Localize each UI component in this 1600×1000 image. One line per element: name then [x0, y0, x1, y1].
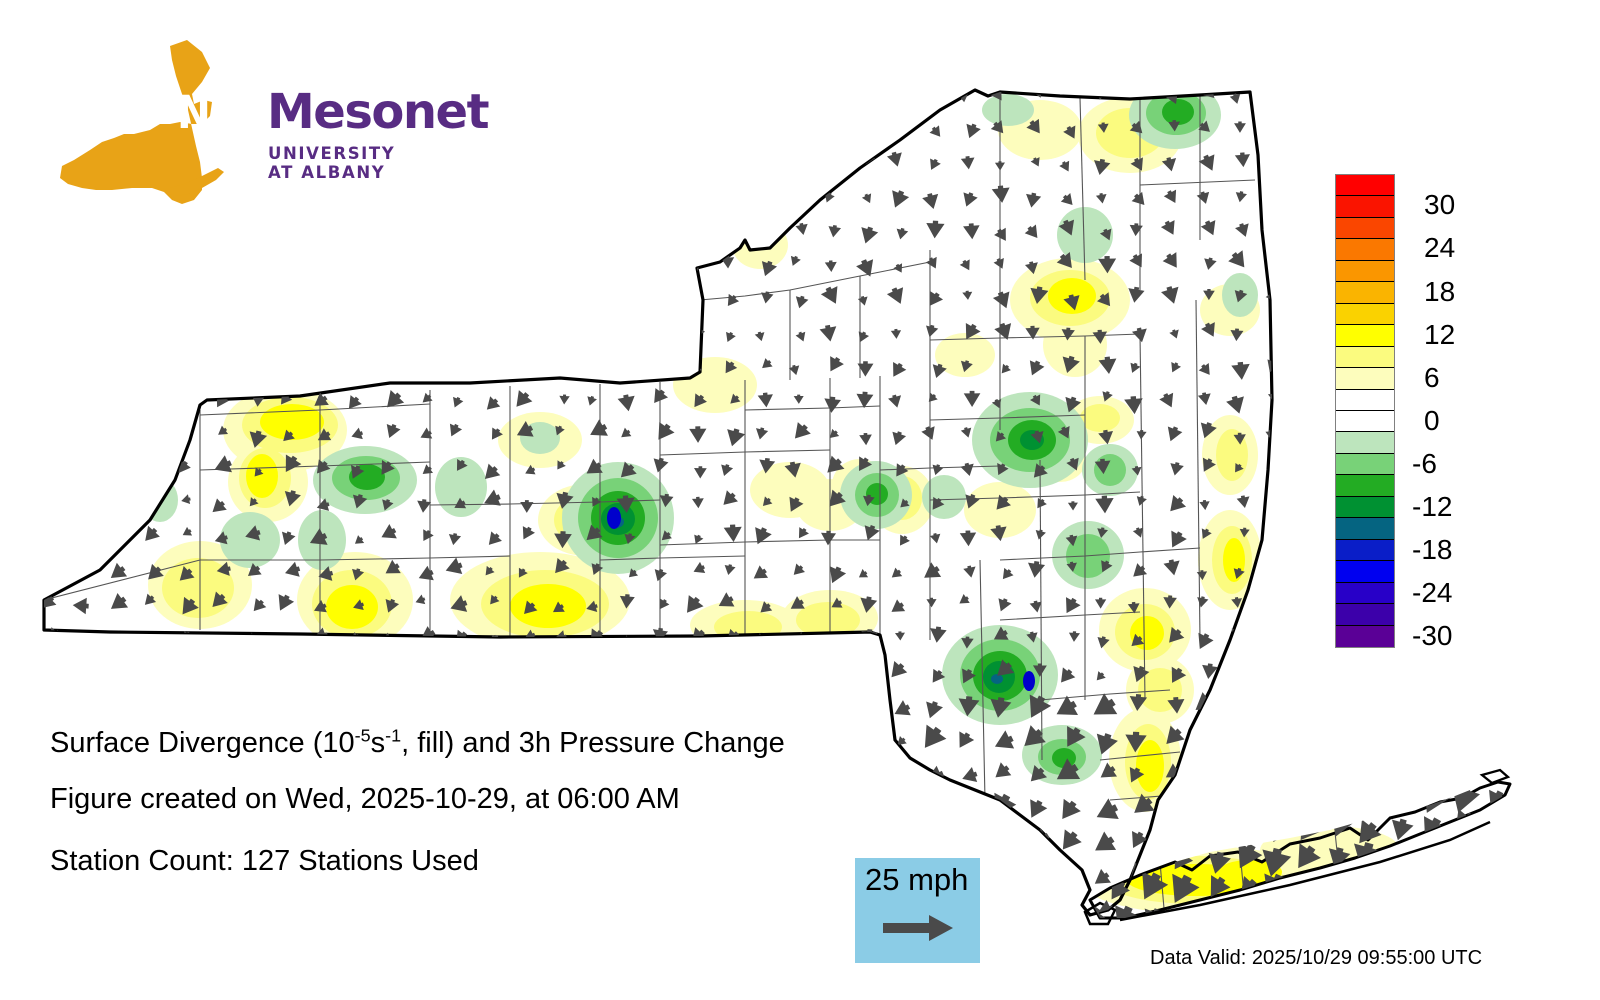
pressure-change-arrow: [1327, 874, 1357, 904]
pressure-change-arrow: [351, 703, 367, 719]
pressure-change-arrow: [181, 395, 194, 408]
pressure-change-arrow: [1320, 778, 1358, 816]
pressure-change-arrow: [443, 557, 465, 579]
pressure-change-arrow: [724, 524, 743, 542]
pressure-change-arrow: [447, 294, 464, 311]
pressure-change-arrow: [517, 834, 543, 860]
pressure-change-arrow: [282, 901, 295, 914]
pressure-change-arrow: [1158, 829, 1187, 858]
pressure-change-arrow: [106, 591, 131, 616]
pressure-change-arrow: [793, 764, 810, 781]
pressure-change-arrow: [752, 222, 770, 239]
pressure-change-arrow: [722, 899, 745, 921]
pressure-change-arrow: [660, 910, 669, 920]
pressure-change-arrow: [787, 800, 806, 819]
pressure-change-arrow: [1161, 250, 1183, 272]
colorbar-tick-label: -6: [1412, 448, 1437, 480]
pressure-change-arrow: [1163, 424, 1183, 444]
pressure-change-arrow: [1192, 631, 1214, 653]
pressure-change-arrow: [1134, 495, 1147, 508]
pressure-change-arrow: [1136, 430, 1147, 440]
pressure-change-arrow: [758, 186, 774, 202]
pressure-change-arrow: [751, 150, 771, 170]
pressure-change-arrow: [625, 699, 638, 711]
pressure-change-arrow: [409, 354, 432, 377]
pressure-change-arrow: [963, 565, 978, 579]
pressure-change-arrow: [1125, 829, 1149, 852]
pressure-change-arrow: [180, 494, 191, 506]
pressure-change-arrow: [689, 834, 710, 856]
pressure-change-arrow: [647, 252, 669, 274]
pressure-change-arrow: [990, 761, 1013, 784]
pressure-change-arrow: [108, 693, 129, 714]
pressure-change-arrow: [794, 395, 804, 404]
pressure-change-arrow: [550, 836, 564, 851]
pressure-change-arrow: [928, 124, 945, 140]
colorbar-band: [1336, 475, 1394, 496]
pressure-change-arrow: [1267, 500, 1280, 513]
pressure-change-arrow: [1060, 192, 1078, 210]
pressure-change-arrow: [559, 394, 570, 404]
pressure-change-arrow: [446, 222, 462, 238]
pressure-change-arrow: [555, 226, 572, 243]
pressure-change-arrow: [788, 870, 804, 886]
pressure-change-arrow: [42, 534, 56, 548]
pressure-change-arrow: [1227, 248, 1252, 273]
pressure-change-arrow: [139, 455, 160, 476]
pressure-change-arrow: [517, 524, 536, 542]
pressure-change-arrow: [482, 395, 502, 415]
title-exp1: -5: [355, 725, 371, 745]
pressure-change-arrow: [891, 329, 902, 340]
pressure-change-arrow: [754, 331, 766, 343]
pressure-change-arrow: [690, 117, 709, 135]
pressure-change-arrow: [411, 259, 428, 276]
pressure-change-arrow: [682, 149, 707, 173]
pressure-change-arrow: [958, 801, 976, 819]
pressure-change-arrow: [378, 523, 399, 544]
pressure-change-arrow: [76, 320, 94, 338]
pressure-change-arrow: [656, 693, 676, 714]
pressure-change-arrow: [915, 722, 949, 755]
pressure-change-arrow: [892, 769, 910, 787]
colorbar-tick-label: 12: [1424, 319, 1455, 351]
pressure-change-arrow: [719, 868, 737, 887]
data-valid-text: Data Valid: 2025/10/29 09:55:00 UTC: [1150, 947, 1482, 970]
pressure-change-arrow: [655, 597, 670, 612]
title-mid: s: [371, 727, 386, 759]
pressure-change-arrow: [510, 388, 534, 412]
colorbar-band: [1336, 561, 1394, 582]
colorbar-band: [1336, 239, 1394, 260]
pressure-change-arrow: [1445, 870, 1484, 909]
pressure-change-arrow: [887, 802, 910, 824]
pressure-change-arrow: [723, 330, 737, 344]
colorbar-band: [1336, 196, 1394, 217]
pressure-change-arrow: [854, 82, 878, 105]
pressure-change-arrow: [692, 806, 706, 820]
pressure-change-arrow: [1262, 786, 1298, 821]
pressure-change-arrow: [485, 898, 502, 915]
pressure-change-arrow: [691, 561, 707, 577]
pressure-change-arrow: [447, 532, 461, 546]
pressure-change-arrow: [278, 530, 296, 548]
colorbar-tick-label: 24: [1424, 232, 1455, 264]
pressure-change-arrow: [450, 395, 464, 409]
pressure-change-arrow: [1259, 151, 1281, 172]
pressure-change-arrow: [208, 497, 229, 518]
pressure-change-arrow: [823, 768, 845, 790]
pressure-change-arrow: [1268, 663, 1284, 679]
pressure-change-arrow: [723, 188, 744, 208]
colorbar-band: [1336, 282, 1394, 303]
pressure-change-arrow: [652, 766, 670, 783]
pressure-change-arrow: [176, 320, 193, 337]
pressure-change-arrow: [1268, 192, 1281, 204]
pressure-change-arrow: [249, 900, 263, 914]
pressure-change-arrow: [922, 192, 942, 211]
pressure-change-arrow: [1129, 223, 1143, 237]
pressure-change-arrow: [789, 739, 803, 752]
pressure-change-arrow: [1164, 493, 1188, 517]
pressure-change-arrow: [418, 427, 434, 443]
pressure-change-arrow: [546, 191, 565, 209]
pressure-change-arrow: [110, 899, 131, 920]
pressure-change-arrow: [102, 323, 125, 346]
pressure-change-arrow: [1023, 223, 1042, 242]
pressure-change-arrow: [72, 497, 92, 516]
pressure-change-arrow: [1054, 796, 1083, 825]
colorbar-tick-label: 6: [1424, 362, 1440, 394]
pressure-change-arrow: [1195, 595, 1209, 608]
pressure-change-arrow: [349, 359, 367, 378]
pressure-change-arrow: [1128, 562, 1148, 582]
pressure-change-arrow: [1020, 901, 1048, 928]
colorbar-band: [1336, 454, 1394, 475]
pressure-change-arrow: [1200, 218, 1221, 239]
pressure-change-arrow: [1163, 558, 1182, 577]
pressure-change-arrow: [519, 286, 537, 304]
pressure-change-arrow: [144, 359, 164, 378]
pressure-change-arrow: [861, 192, 874, 205]
pressure-change-arrow: [115, 360, 130, 375]
pressure-change-arrow: [272, 592, 295, 615]
pressure-change-arrow: [724, 696, 742, 714]
pressure-change-arrow: [79, 221, 93, 235]
pressure-change-arrow: [591, 904, 605, 918]
pressure-change-arrow: [825, 260, 838, 272]
pressure-change-arrow: [624, 900, 640, 916]
pressure-change-arrow: [995, 161, 1005, 171]
pressure-change-arrow: [1224, 692, 1254, 722]
pressure-change-arrow: [352, 327, 363, 337]
pressure-change-arrow: [987, 835, 1009, 857]
pressure-change-arrow: [415, 900, 432, 918]
colorbar-band: [1336, 390, 1394, 411]
pressure-change-arrow: [111, 462, 133, 484]
logo-divider: [258, 84, 265, 142]
pressure-change-arrow: [754, 696, 768, 710]
pressure-change-arrow: [1231, 361, 1251, 380]
pressure-change-arrow: [615, 153, 635, 172]
pressure-change-arrow: [480, 149, 500, 169]
pressure-change-arrow: [852, 121, 871, 140]
pressure-change-arrow: [1132, 526, 1146, 539]
pressure-change-arrow: [1159, 792, 1185, 817]
pressure-change-arrow: [41, 496, 61, 517]
pressure-change-arrow: [920, 86, 942, 107]
nys-mesonet-logo: NYS Mesonet UNIVERSITY AT ALBANY: [52, 38, 397, 208]
pressure-change-arrow: [685, 870, 705, 890]
pressure-change-arrow: [1262, 794, 1288, 820]
pressure-change-arrow: [1382, 782, 1416, 815]
pressure-change-arrow: [887, 598, 906, 618]
pressure-change-arrow: [686, 288, 700, 302]
pressure-change-arrow: [345, 662, 370, 687]
pressure-change-arrow: [1127, 361, 1141, 375]
pressure-change-arrow: [990, 891, 1021, 923]
colorbar-tick-label: -24: [1412, 577, 1452, 609]
pressure-change-arrow: [819, 324, 839, 343]
pressure-change-arrow: [208, 659, 230, 680]
colorbar-band: [1336, 432, 1394, 453]
pressure-change-arrow: [826, 159, 842, 174]
pressure-change-arrow: [482, 694, 503, 714]
pressure-change-arrow: [1199, 500, 1210, 511]
pressure-change-arrow: [1225, 808, 1266, 849]
pressure-change-arrow: [591, 192, 604, 205]
pressure-change-arrow: [146, 766, 159, 779]
pressure-change-arrow: [1270, 88, 1281, 99]
pressure-change-arrow: [1227, 900, 1252, 924]
pressure-change-arrow: [923, 324, 938, 339]
pressure-change-arrow: [788, 84, 802, 98]
pressure-change-arrow: [926, 157, 942, 173]
pressure-change-arrow: [183, 288, 197, 302]
colorbar-band: [1336, 411, 1394, 432]
colorbar-tick-label: -12: [1412, 491, 1452, 523]
pressure-change-arrow: [1264, 693, 1286, 714]
pressure-change-arrow: [964, 391, 981, 407]
logo-mesonet-text: Mesonet: [267, 88, 488, 136]
pressure-change-arrow: [175, 902, 199, 927]
pressure-change-arrow: [1056, 864, 1077, 885]
pressure-change-arrow: [856, 568, 869, 581]
colorbar-tick-label: -30: [1412, 620, 1452, 652]
pressure-change-arrow: [248, 597, 267, 616]
pressure-change-arrow: [962, 290, 973, 300]
colorbar-band: [1336, 261, 1394, 282]
pressure-change-arrow: [320, 324, 334, 337]
pressure-change-arrow: [895, 533, 911, 549]
pressure-change-arrow: [1408, 873, 1446, 911]
pressure-change-arrow: [963, 223, 981, 240]
pressure-change-arrow: [785, 185, 802, 202]
pressure-change-arrow: [376, 659, 398, 680]
pressure-change-arrow: [113, 762, 130, 780]
pressure-change-arrow: [1096, 192, 1108, 204]
pressure-change-arrow: [1169, 328, 1182, 340]
station-marker: [1023, 671, 1035, 691]
pressure-change-arrow: [514, 323, 531, 340]
pressure-change-arrow: [653, 841, 666, 854]
pressure-change-arrow: [861, 834, 875, 848]
pressure-change-arrow: [208, 903, 227, 922]
pressure-change-arrow: [1029, 83, 1047, 101]
pressure-change-arrow: [1034, 529, 1047, 541]
pressure-change-arrow: [388, 698, 399, 709]
pressure-change-arrow: [991, 729, 1017, 756]
pressure-change-arrow: [584, 835, 596, 847]
pressure-change-arrow: [888, 393, 904, 409]
pressure-change-arrow: [757, 392, 774, 408]
pressure-change-arrow: [756, 662, 777, 683]
pressure-change-arrow: [147, 664, 158, 676]
pressure-change-arrow: [1236, 495, 1251, 510]
arrow-right-icon: [883, 913, 955, 943]
pressure-change-arrow: [759, 357, 774, 372]
pressure-change-arrow: [111, 393, 125, 407]
pressure-change-arrow: [1095, 598, 1106, 609]
pressure-change-arrow: [316, 667, 332, 683]
pressure-change-arrow: [652, 861, 676, 885]
pressure-change-arrow: [961, 156, 976, 171]
colorbar-band: [1336, 175, 1394, 196]
pressure-change-arrow: [213, 354, 234, 374]
pressure-change-arrow: [926, 828, 949, 851]
pressure-change-arrow: [280, 664, 297, 681]
pressure-change-arrow: [386, 767, 402, 783]
pressure-change-arrow: [518, 668, 535, 685]
pressure-change-arrow: [855, 330, 870, 345]
pressure-change-arrow: [618, 427, 633, 442]
pressure-change-arrow: [314, 693, 333, 713]
pressure-change-arrow: [176, 701, 196, 721]
pressure-change-arrow: [1160, 284, 1183, 306]
pressure-change-arrow: [926, 598, 936, 608]
pressure-change-arrow: [654, 671, 666, 683]
pressure-change-arrow: [184, 768, 196, 780]
pressure-change-arrow: [723, 427, 746, 449]
pressure-change-arrow: [281, 224, 303, 246]
pressure-change-arrow: [514, 902, 530, 918]
pressure-change-arrow: [926, 220, 945, 239]
pressure-change-arrow: [283, 633, 302, 652]
pressure-change-arrow: [105, 657, 130, 681]
pressure-change-arrow: [382, 422, 401, 441]
pressure-change-arrow: [1263, 762, 1284, 783]
pressure-change-arrow: [241, 693, 265, 717]
pressure-change-arrow: [1158, 391, 1178, 411]
pressure-change-arrow: [1258, 908, 1286, 936]
pressure-change-arrow: [580, 359, 601, 380]
pressure-change-arrow: [887, 188, 911, 211]
pressure-change-arrow: [1413, 780, 1454, 820]
pressure-change-arrow: [342, 219, 366, 243]
pressure-change-arrow: [1380, 870, 1422, 911]
pressure-change-arrow: [37, 394, 58, 415]
pressure-change-arrow: [248, 260, 268, 279]
pressure-change-arrow: [858, 295, 870, 307]
pressure-change-arrow: [414, 594, 427, 607]
pressure-change-arrow: [854, 803, 872, 821]
pressure-change-arrow: [453, 154, 468, 168]
pressure-change-arrow: [73, 662, 91, 680]
pressure-change-arrow: [111, 498, 122, 510]
pressure-change-arrow: [418, 700, 433, 715]
pressure-change-arrow: [691, 84, 706, 98]
pressure-change-arrow: [449, 326, 463, 340]
pressure-change-arrow: [140, 632, 159, 652]
pressure-change-arrow: [378, 320, 395, 337]
title-exp2: -1: [385, 725, 401, 745]
pressure-change-arrow: [141, 322, 160, 340]
pressure-change-arrow: [859, 664, 882, 687]
pressure-change-arrow: [654, 188, 673, 206]
pressure-change-arrow: [488, 834, 504, 850]
pressure-change-arrow: [318, 221, 334, 236]
pressure-change-arrow: [1473, 839, 1513, 878]
pressure-change-arrow: [796, 124, 808, 136]
pressure-change-arrow: [784, 666, 805, 687]
pressure-change-arrow: [244, 666, 267, 689]
pressure-change-arrow: [108, 428, 127, 447]
pressure-change-arrow: [1198, 391, 1213, 406]
colorbar-band: [1336, 604, 1394, 625]
pressure-change-arrow: [274, 361, 293, 381]
pressure-change-arrow: [554, 157, 568, 171]
pressure-change-arrow: [919, 561, 943, 585]
pressure-change-arrow: [1193, 812, 1231, 850]
pressure-change-arrow: [108, 528, 124, 545]
pressure-change-arrow: [418, 528, 434, 544]
pressure-change-arrow: [175, 218, 193, 236]
pressure-change-arrow: [1229, 897, 1269, 936]
pressure-change-arrow: [894, 227, 908, 241]
pressure-change-arrow: [416, 499, 431, 514]
pressure-change-arrow: [752, 866, 770, 884]
pressure-change-arrow: [1259, 734, 1280, 755]
pressure-change-arrow: [694, 466, 707, 478]
pressure-change-arrow: [314, 766, 327, 779]
pressure-change-arrow: [414, 318, 437, 341]
pressure-change-arrow: [343, 393, 363, 413]
pressure-change-arrow: [1160, 218, 1180, 238]
pressure-change-arrow: [278, 292, 291, 305]
pressure-change-arrow: [1059, 595, 1081, 617]
pressure-change-arrow: [795, 222, 809, 236]
lake-fragment: [1482, 770, 1508, 783]
pressure-change-arrow: [484, 184, 502, 202]
pressure-change-arrow: [381, 227, 393, 238]
pressure-change-arrow: [996, 870, 1016, 890]
pressure-change-arrow: [307, 358, 330, 380]
pressure-change-arrow: [477, 288, 500, 310]
pressure-change-arrow: [960, 426, 973, 439]
pressure-change-arrow: [415, 187, 437, 209]
pressure-change-arrow: [959, 258, 974, 273]
colorbar-band: [1336, 368, 1394, 389]
pressure-change-arrow: [760, 767, 773, 780]
pressure-change-arrow: [520, 500, 533, 513]
pressure-change-arrow: [1225, 394, 1248, 416]
pressure-change-arrow: [109, 225, 125, 242]
pressure-change-arrow: [144, 391, 159, 405]
pressure-change-arrow: [651, 420, 676, 445]
pressure-change-arrow: [859, 433, 872, 446]
pressure-change-arrow: [650, 361, 669, 380]
pressure-change-arrow: [76, 462, 94, 480]
